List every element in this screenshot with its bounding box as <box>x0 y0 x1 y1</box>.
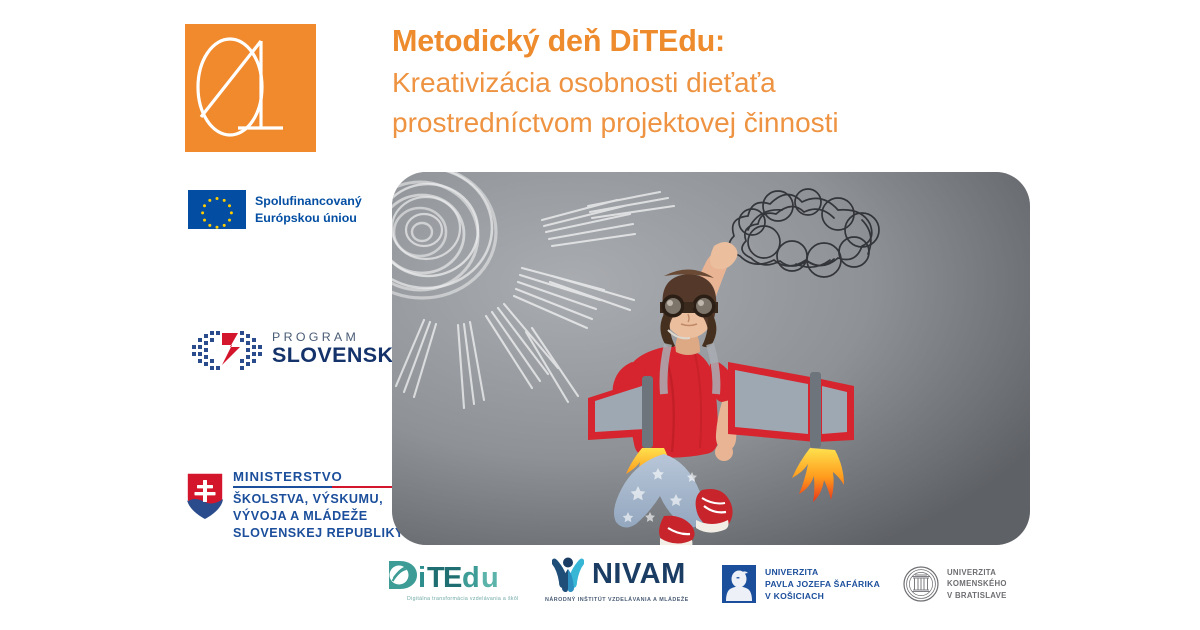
eu-flag-icon <box>188 190 246 229</box>
page-subtitle-line-2: prostredníctvom projektovej činnosti <box>392 103 992 143</box>
uk-line-1: UNIVERZITA <box>947 567 1007 578</box>
ditedu-icon: i T E d u <box>385 558 507 592</box>
ministry-rule <box>233 486 404 488</box>
uk-line-2: KOMENSKÉHO <box>947 578 1007 589</box>
ministry-text: MINISTERSTVO ŠKOLSTVA, VÝSKUMU, VÝVOJA A… <box>233 470 404 542</box>
upjs-line-3: V KOŠICIACH <box>765 590 880 602</box>
ditedu-tagline: Digitálna transformácia vzdelávania a šk… <box>407 596 519 602</box>
upjs-line-2: PAVLA JOZEFA ŠAFÁRIKA <box>765 578 880 590</box>
svg-text:E: E <box>443 562 462 592</box>
badge-01-icon <box>185 24 316 152</box>
program-slovensko-word-top: PROGRAM <box>272 331 411 343</box>
page-subtitle-line-1: Kreativizácia osobnosti dieťaťa <box>392 63 992 103</box>
eu-cofunding-line-2: Európskou úniou <box>255 210 362 226</box>
nivam-row: NIVAM <box>548 556 686 592</box>
nivam-tagline: NÁRODNÝ INŠTITÚT VZDELÁVANIA A MLÁDEŽE <box>545 597 689 603</box>
program-slovensko-icon <box>190 325 262 373</box>
eu-cofunding-line-1: Spolufinancovaný <box>255 193 362 209</box>
partner-logo-uk: UNIVERZITA KOMENSKÉHO V BRATISLAVE <box>903 566 1007 602</box>
upjs-text: UNIVERZITA PAVLA JOZEFA ŠAFÁRIKA V KOŠIC… <box>765 566 880 603</box>
hero-photo <box>392 172 1030 545</box>
upjs-line-1: UNIVERZITA <box>765 566 880 578</box>
ministry-line-3: SLOVENSKEJ REPUBLIKY <box>233 525 404 542</box>
hero-photo-illustration <box>392 172 1030 545</box>
partner-logo-ditedu: i T E d u Digitálna transformácia vzdelá… <box>385 558 519 602</box>
partner-logo-row: i T E d u Digitálna transformácia vzdelá… <box>385 556 1085 618</box>
program-slovensko-logo: PROGRAM SLOVENSKO <box>190 325 411 373</box>
svg-text:i: i <box>418 562 426 592</box>
partner-logo-upjs: UNIVERZITA PAVLA JOZEFA ŠAFÁRIKA V KOŠIC… <box>722 565 880 603</box>
program-slovensko-text: PROGRAM SLOVENSKO <box>272 331 411 367</box>
svg-text:d: d <box>462 562 480 592</box>
ministry-headword: MINISTERSTVO <box>233 470 404 485</box>
page-title: Metodický deň DiTEdu: <box>392 22 992 60</box>
nivam-icon <box>548 556 588 592</box>
ministry-logo: MINISTERSTVO ŠKOLSTVA, VÝSKUMU, VÝVOJA A… <box>186 470 404 542</box>
eu-cofunding-logo: Spolufinancovaný Európskou úniou <box>188 190 362 229</box>
comenius-seal-icon <box>903 566 939 602</box>
uk-text: UNIVERZITA KOMENSKÉHO V BRATISLAVE <box>947 567 1007 600</box>
ministry-body: ŠKOLSTVA, VÝSKUMU, VÝVOJA A MLÁDEŽE SLOV… <box>233 491 404 542</box>
slovak-coat-of-arms-icon <box>186 472 224 520</box>
uk-line-3: V BRATISLAVE <box>947 590 1007 601</box>
ministry-line-2: VÝVOJA A MLÁDEŽE <box>233 508 404 525</box>
upjs-seal-icon <box>722 565 756 603</box>
page-subtitle: Kreativizácia osobnosti dieťaťa prostred… <box>392 63 992 143</box>
ministry-line-1: ŠKOLSTVA, VÝSKUMU, <box>233 491 404 508</box>
eu-cofunding-text: Spolufinancovaný Európskou úniou <box>255 193 362 226</box>
badge-01 <box>185 24 316 152</box>
nivam-wordmark: NIVAM <box>592 560 686 589</box>
poster-canvas: Metodický deň DiTEdu: Kreativizácia osob… <box>0 0 1200 630</box>
title-block: Metodický deň DiTEdu: Kreativizácia osob… <box>392 22 992 143</box>
svg-text:u: u <box>481 562 499 592</box>
ditedu-wordmark: i T E d u <box>385 558 507 592</box>
program-slovensko-word-bottom: SLOVENSKO <box>272 345 411 367</box>
partner-logo-nivam: NIVAM NÁRODNÝ INŠTITÚT VZDELÁVANIA A MLÁ… <box>545 556 689 603</box>
